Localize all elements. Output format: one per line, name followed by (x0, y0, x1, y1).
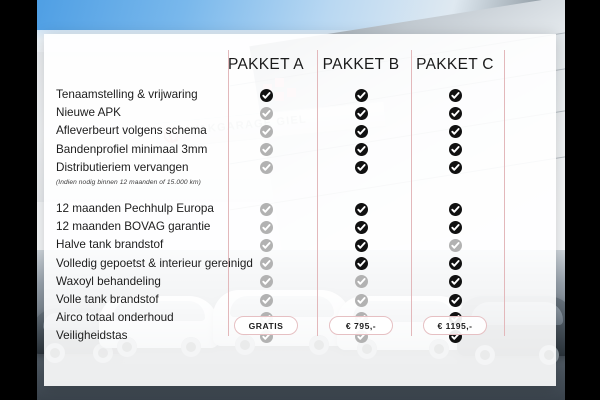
check-cell (341, 104, 381, 122)
price-button-a[interactable]: GRATIS (234, 316, 298, 335)
check-cell (435, 122, 475, 140)
check-circle-icon (260, 161, 273, 174)
feature-label: 12 maanden BOVAG garantie (56, 218, 266, 236)
check-circle-icon (449, 125, 462, 138)
check-cell (435, 104, 475, 122)
group-spacer (56, 189, 266, 200)
column-header-c: PAKKET C (395, 56, 515, 74)
check-circle-icon (355, 221, 368, 234)
pricing-table-card: PAKKET APAKKET BPAKKET C Tenaamstelling … (44, 34, 556, 386)
check-circle-icon (449, 203, 462, 216)
check-circle-icon (260, 125, 273, 138)
letterbox-bar-left (0, 0, 37, 400)
check-cell (341, 273, 381, 291)
feature-label: Tenaamstelling & vrijwaring (56, 86, 266, 104)
column-separator (317, 50, 318, 336)
check-circle-icon (449, 221, 462, 234)
check-cell (435, 141, 475, 159)
feature-label: Afleverbeurt volgens schema (56, 122, 266, 140)
check-circle-icon (260, 221, 273, 234)
check-cell (246, 255, 286, 273)
check-circle-icon (260, 275, 273, 288)
check-cell (341, 218, 381, 236)
check-cell (341, 86, 381, 104)
check-cell (341, 159, 381, 177)
screenshot-stage: VAKGARAGE GIEL (0, 0, 600, 400)
check-cell (435, 236, 475, 254)
check-cell (435, 291, 475, 309)
check-cell (435, 159, 475, 177)
check-circle-icon (449, 143, 462, 156)
check-circle-icon (260, 143, 273, 156)
check-cell (341, 200, 381, 218)
check-circle-icon (355, 89, 368, 102)
check-circle-icon (355, 125, 368, 138)
check-circle-icon (260, 89, 273, 102)
check-cell (435, 273, 475, 291)
check-cell (435, 255, 475, 273)
check-cell (246, 291, 286, 309)
check-circle-icon (449, 161, 462, 174)
check-circle-icon (449, 89, 462, 102)
check-circle-icon (260, 203, 273, 216)
feature-label-list: Tenaamstelling & vrijwaringNieuwe APKAfl… (56, 86, 266, 345)
check-cell (341, 291, 381, 309)
price-button-c[interactable]: € 1195,- (423, 316, 487, 335)
check-cell (341, 141, 381, 159)
feature-label: Volle tank brandstof (56, 291, 266, 309)
feature-label: Halve tank brandstof (56, 236, 266, 254)
check-circle-icon (260, 257, 273, 270)
check-cell (341, 122, 381, 140)
check-circle-icon (355, 161, 368, 174)
check-circle-icon (355, 239, 368, 252)
check-circle-icon (449, 275, 462, 288)
check-cell (246, 200, 286, 218)
check-circle-icon (355, 294, 368, 307)
feature-note: (Indien nodig binnen 12 maanden of 15.00… (56, 177, 266, 189)
feature-label: Distributieriem vervangen (56, 159, 266, 177)
check-cell (246, 273, 286, 291)
check-circle-icon (260, 107, 273, 120)
check-circle-icon (449, 294, 462, 307)
check-cell (435, 200, 475, 218)
check-cell (341, 236, 381, 254)
check-circle-icon (449, 239, 462, 252)
check-circle-icon (260, 239, 273, 252)
feature-label: Volledig gepoetst & interieur gereinigd (56, 255, 266, 273)
check-circle-icon (355, 275, 368, 288)
letterbox-bar-right (565, 0, 600, 400)
check-cell (246, 104, 286, 122)
feature-label: 12 maanden Pechhulp Europa (56, 200, 266, 218)
check-cell (341, 255, 381, 273)
check-circle-icon (355, 143, 368, 156)
check-circle-icon (355, 257, 368, 270)
check-cell (435, 218, 475, 236)
feature-label: Nieuwe APK (56, 104, 266, 122)
check-circle-icon (449, 107, 462, 120)
price-button-b[interactable]: € 795,- (329, 316, 393, 335)
check-cell (246, 141, 286, 159)
check-cell (246, 218, 286, 236)
check-circle-icon (260, 294, 273, 307)
feature-label: Bandenprofiel minimaal 3mm (56, 141, 266, 159)
feature-label: Waxoyl behandeling (56, 273, 266, 291)
check-cell (246, 159, 286, 177)
column-separator (411, 50, 412, 336)
check-cell (435, 86, 475, 104)
check-cell (246, 86, 286, 104)
column-separator (504, 50, 505, 336)
check-circle-icon (355, 107, 368, 120)
check-cell (246, 122, 286, 140)
check-circle-icon (355, 203, 368, 216)
check-circle-icon (449, 257, 462, 270)
check-cell (246, 236, 286, 254)
